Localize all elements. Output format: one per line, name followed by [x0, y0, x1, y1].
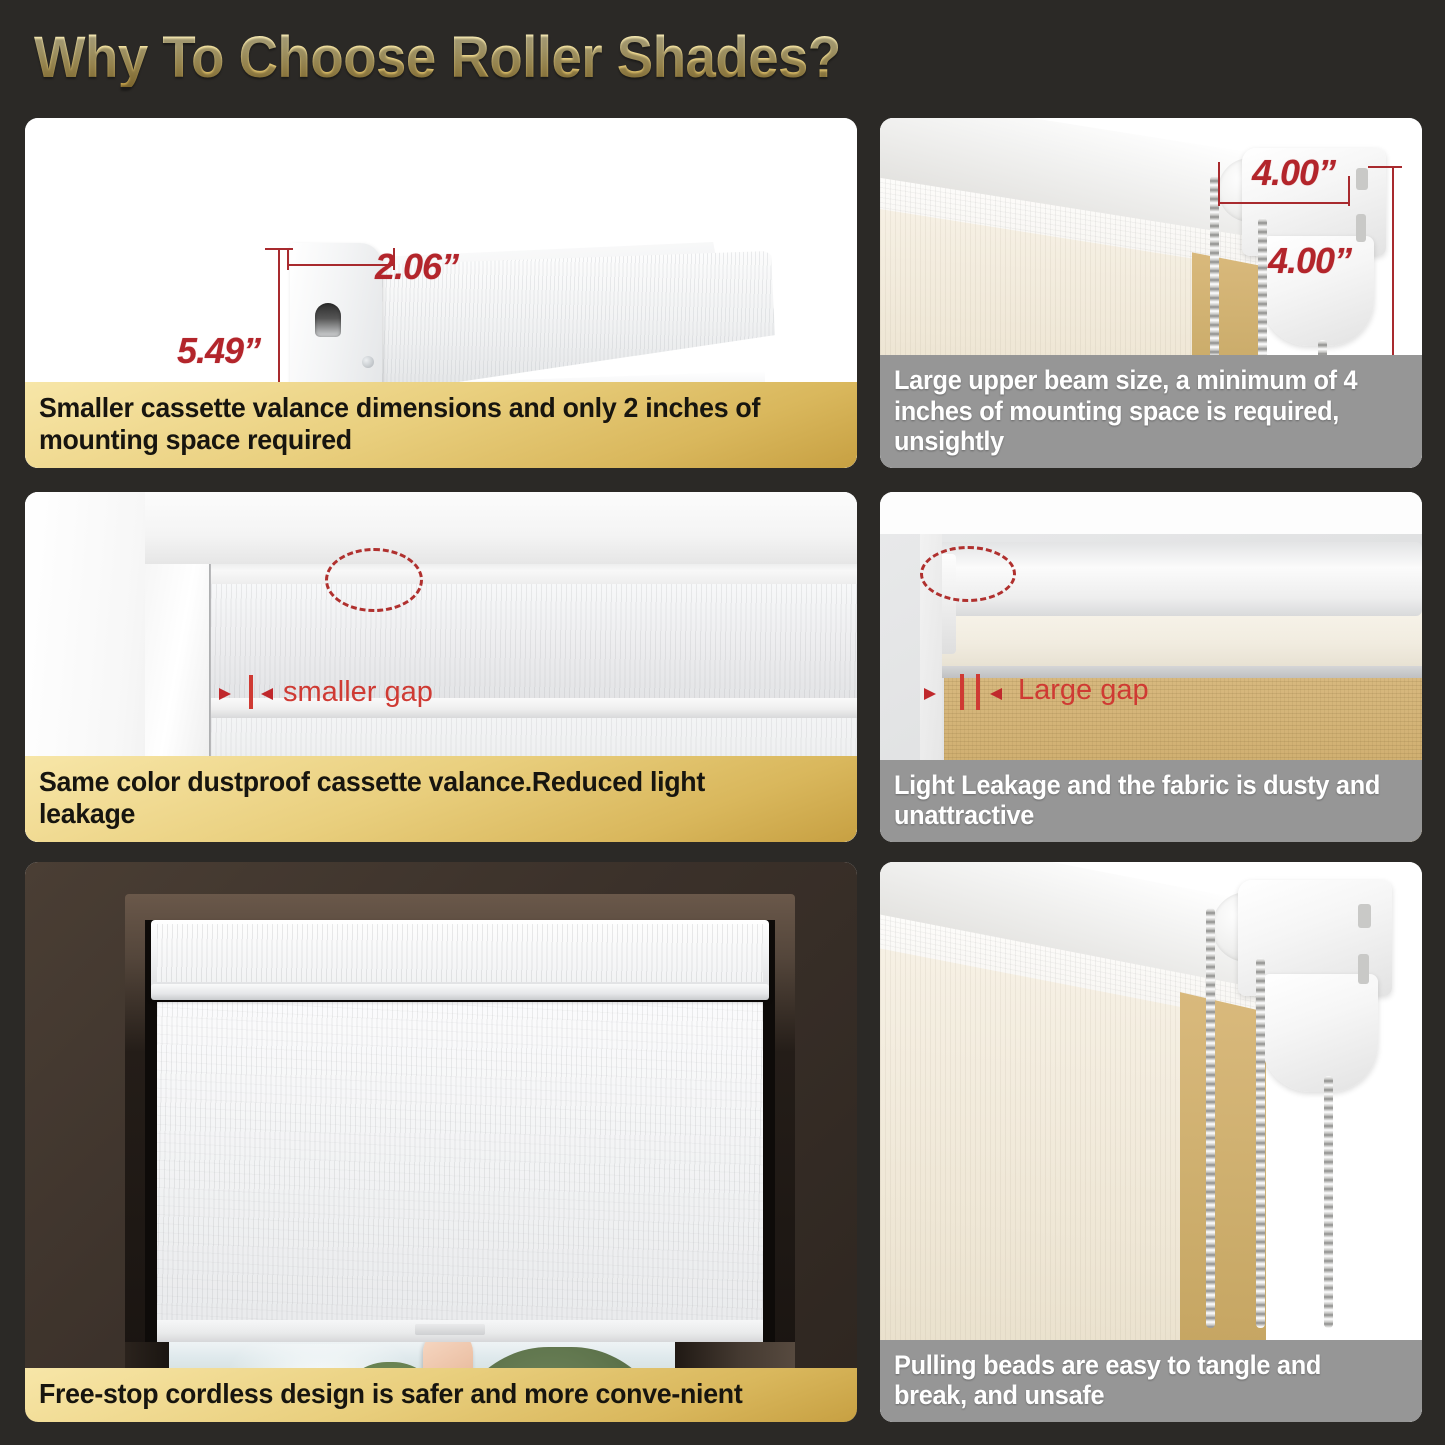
- dim-tick-width-right: [1348, 176, 1350, 206]
- callout-ellipse-icon: [325, 548, 423, 612]
- shade-pull-tab: [415, 1324, 485, 1335]
- bracket-notch-2-icon: [1358, 954, 1369, 984]
- bead-chain-right: [1324, 1076, 1333, 1328]
- panel-5-image: [25, 862, 857, 1422]
- dim-tick-width-left: [287, 248, 289, 270]
- panel-2-caption: Large upper beam size, a minimum of 4 in…: [880, 355, 1422, 468]
- gap-marker-line-1: [960, 674, 964, 710]
- panel-6-caption-text: Pulling beads are easy to tangle and bre…: [894, 1350, 1385, 1410]
- panel-1-caption: Smaller cassette valance dimensions and …: [25, 382, 857, 468]
- panel-3-caption: Same color dustproof cassette valance.Re…: [25, 756, 857, 842]
- ceiling-strip: [880, 492, 1422, 534]
- gap-arrow-right-icon: [990, 688, 1002, 700]
- panel-5-caption: Free-stop cordless design is safer and m…: [25, 1368, 857, 1422]
- gap-arrow-left-icon: [924, 688, 936, 700]
- valance-slot-icon: [315, 303, 341, 337]
- valance-fabric-texture: [157, 924, 763, 982]
- roller-shade-fabric: [157, 1002, 763, 1332]
- dim-tick-width-left: [1218, 162, 1220, 206]
- callout-ellipse-icon: [920, 546, 1016, 602]
- panel-3-product-dustproof: smaller gap Same color dustproof cassett…: [25, 492, 857, 842]
- bracket-notch-2-icon: [1356, 214, 1366, 242]
- gap-label-text: Large gap: [1018, 674, 1149, 707]
- panel-3-caption-text: Same color dustproof cassette valance.Re…: [39, 766, 807, 830]
- valance-screw-small-icon: [362, 356, 374, 368]
- valance-bottom-edge: [942, 664, 1422, 678]
- panel-6-caption: Pulling beads are easy to tangle and bre…: [880, 1340, 1422, 1422]
- dimension-width-label: 2.06”: [375, 246, 458, 288]
- gap-arrow-right-icon: [261, 688, 273, 700]
- panel-4-caption-text: Light Leakage and the fabric is dusty an…: [894, 770, 1385, 830]
- panel-4-competitor-leakage: Large gap Light Leakage and the fabric i…: [880, 492, 1422, 842]
- mounting-bracket-lower: [1262, 974, 1378, 1092]
- valance-white-face: [942, 608, 1422, 666]
- bracket-notch-1-icon: [1358, 904, 1371, 928]
- panel-6-image: [880, 862, 1422, 1422]
- page-title-text: Why To Choose Roller Shades?: [34, 29, 841, 87]
- gap-marker-line: [249, 675, 253, 709]
- bracket-notch-1-icon: [1356, 168, 1368, 190]
- dim-line-width: [1218, 202, 1350, 204]
- bead-chain-left: [1206, 908, 1215, 1328]
- dim-tick-height-top: [265, 248, 293, 250]
- dimension-width-label: 4.00”: [1252, 152, 1335, 194]
- panel-1-caption-text: Smaller cassette valance dimensions and …: [39, 392, 807, 456]
- panel-2-caption-text: Large upper beam size, a minimum of 4 in…: [894, 365, 1385, 456]
- gap-arrow-left-icon: [219, 688, 231, 700]
- page-title: Why To Choose Roller Shades?: [34, 22, 1034, 94]
- bead-chain-mid: [1256, 958, 1265, 1328]
- panel-4-caption: Light Leakage and the fabric is dusty an…: [880, 760, 1422, 842]
- dim-tick-height-top: [1368, 166, 1402, 168]
- gap-label-text: smaller gap: [283, 676, 433, 709]
- panel-5-caption-text: Free-stop cordless design is safer and m…: [39, 1378, 807, 1410]
- panel-5-product-cordless: Free-stop cordless design is safer and m…: [25, 862, 857, 1422]
- gap-marker-line-2: [976, 674, 980, 710]
- window-frame-top: [145, 492, 857, 564]
- valance-bottom-lip: [151, 984, 769, 1000]
- dim-line-height: [1392, 166, 1394, 358]
- panel-6-competitor-beads: Pulling beads are easy to tangle and bre…: [880, 862, 1422, 1422]
- panel-2-competitor-beam: 4.00” 4.00” Large upper beam size, a min…: [880, 118, 1422, 468]
- dimension-height-label: 4.00”: [1268, 240, 1351, 282]
- dimension-height-label: 5.49”: [177, 330, 260, 372]
- panel-1-product-cassette: 2.06” 5.49” Smaller cassette valance dim…: [25, 118, 857, 468]
